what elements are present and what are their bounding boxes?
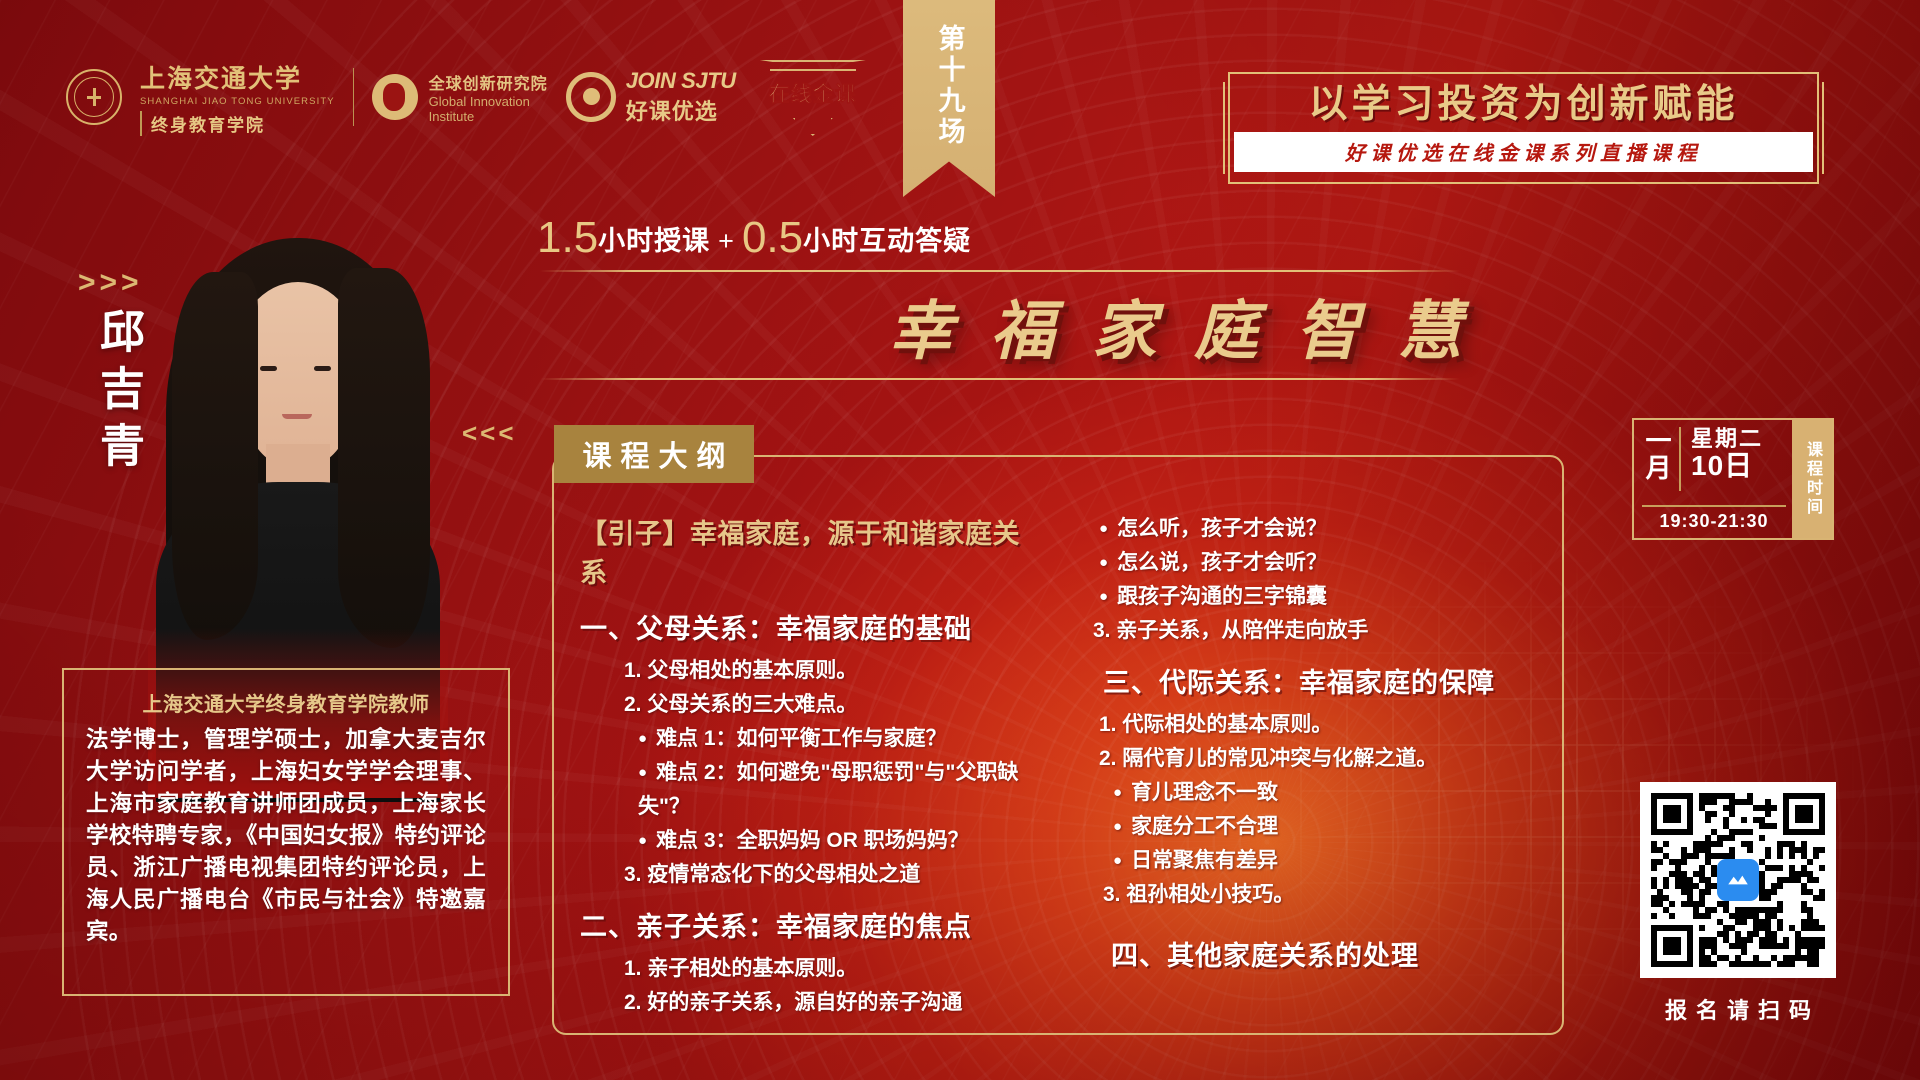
headline-main: 以学习投资为创新赋能 — [1234, 78, 1813, 132]
outline-item: 2. 父母关系的三大难点。 — [580, 688, 1047, 722]
qr-center-logo-icon — [1717, 859, 1759, 901]
outline-item: 2. 好的亲子关系，源自好的亲子沟通 — [580, 986, 1047, 1020]
badge-top-line-inner — [770, 69, 856, 71]
poster-canvas: 上海交通大学 SHANGHAI JIAO TONG UNIVERSITY 终身教… — [0, 0, 1920, 1080]
sjtu-name-en: SHANGHAI JIAO TONG UNIVERSITY — [140, 96, 335, 107]
schedule-time: 19:30-21:30 — [1642, 505, 1786, 532]
sjtu-wordmark: 上海交通大学 SHANGHAI JIAO TONG UNIVERSITY 终身教… — [140, 59, 335, 136]
outline-lead-in: 【引子】幸福家庭，源于和谐家庭关系 — [580, 512, 1047, 590]
gii-name-en-line2: Institute — [429, 109, 548, 124]
sjtu-seal-icon — [66, 69, 122, 125]
session-ribbon-label: 第十九场 — [933, 24, 966, 148]
sjtu-school-name: 终身教育学院 — [140, 111, 335, 136]
outline-bullet: 难点 1：如何平衡工作与家庭？ — [580, 722, 1047, 756]
badge-top-line-outer — [760, 60, 866, 62]
portrait-mouth — [282, 414, 312, 419]
portrait-eye-left — [260, 366, 277, 371]
outline-item: 1. 亲子相处的基本原则。 — [580, 952, 1047, 986]
speaker-arrows-left-icon: <<< — [462, 418, 517, 449]
speaker-bio-box: 上海交通大学终身教育学院教师 法学博士，管理学硕士，加拿大麦吉尔大学访问学者，上… — [62, 668, 510, 996]
gii-logo: 全球创新研究院 Global Innovation Institute — [372, 70, 548, 125]
gii-name-cn: 全球创新研究院 — [429, 70, 548, 94]
outline-item: 1. 代际相处的基本原则。 — [1085, 708, 1552, 742]
speaker-bio-title: 上海交通大学终身教育学院教师 — [86, 688, 486, 717]
join-sjtu-mark-icon — [566, 72, 616, 122]
divider-under-title — [540, 378, 1460, 380]
course-duration: 1.5小时授课+0.5小时互动答疑 — [537, 213, 971, 263]
logo-divider-1 — [353, 68, 354, 126]
outline-item: 1. 父母相处的基本原则。 — [580, 654, 1047, 688]
schedule-side-tab: 课程时间 — [1792, 420, 1832, 538]
outline-bullet: 难点 3：全职妈妈 OR 职场妈妈？ — [580, 824, 1047, 858]
gii-mark-icon — [372, 74, 418, 120]
portrait-hair-left — [172, 272, 258, 640]
outline-bullet: 怎么说，孩子才会听？ — [1085, 546, 1552, 580]
page-title: 幸 福 家 庭 智 慧 — [880, 280, 1480, 372]
join-sjtu-name-en: JOIN SJTU — [626, 68, 736, 94]
outline-item: 2. 隔代育儿的常见冲突与化解之道。 — [1085, 742, 1552, 776]
schedule-month: 一月 — [1644, 427, 1681, 491]
outline-columns: 【引子】幸福家庭，源于和谐家庭关系 一、父母关系：幸福家庭的基础 1. 父母相处… — [554, 457, 1562, 1033]
outline-column-left: 【引子】幸福家庭，源于和谐家庭关系 一、父母关系：幸福家庭的基础 1. 父母相处… — [554, 512, 1057, 1033]
schedule-main: 一月 星期二 10日 19:30-21:30 — [1634, 420, 1792, 538]
duration-qa-hours: 0.5 — [742, 213, 803, 262]
logo-bar: 上海交通大学 SHANGHAI JIAO TONG UNIVERSITY 终身教… — [66, 58, 872, 136]
gii-name-en-line1: Global Innovation — [429, 94, 548, 109]
schedule-side-label: 课程时间 — [1800, 441, 1824, 517]
duration-lecture-label: 小时授课 — [598, 226, 710, 256]
outline-column-right: 怎么听，孩子才会说？ 怎么说，孩子才会听？ 跟孩子沟通的三字锦囊 3. 亲子关系… — [1057, 512, 1562, 1033]
outline-section-2-heading: 二、亲子关系：幸福家庭的焦点 — [580, 905, 1047, 944]
qr-section: 报名请扫码 — [1640, 782, 1836, 1025]
join-sjtu-name-cn: 好课优选 — [626, 94, 736, 126]
outline-section-4-heading: 四、其他家庭关系的处理 — [1085, 934, 1552, 973]
outline-bullet: 日常聚焦有差异 — [1085, 844, 1552, 878]
join-sjtu-logo: JOIN SJTU 好课优选 — [566, 68, 736, 126]
qr-caption: 报名请扫码 — [1640, 993, 1836, 1025]
outline-bullet: 跟孩子沟通的三字锦囊 — [1085, 580, 1552, 614]
duration-lecture-hours: 1.5 — [537, 213, 598, 262]
schedule-weekday: 星期二 — [1691, 427, 1763, 450]
speaker-name: 邱吉青 — [86, 308, 151, 479]
divider-under-duration — [540, 270, 1460, 272]
outline-item: 3. 祖孙相处小技巧。 — [1085, 878, 1552, 912]
headline-sub: 好课优选在线金课系列直播课程 — [1234, 132, 1813, 172]
duration-plus-sign: + — [710, 226, 742, 256]
duration-qa-label: 小时互动答疑 — [803, 226, 971, 256]
speaker-arrows-right-icon: >>> — [78, 266, 143, 300]
sjtu-name-cn: 上海交通大学 — [140, 59, 335, 95]
outline-bullet: 育儿理念不一致 — [1085, 776, 1552, 810]
portrait-hair-right — [338, 268, 430, 648]
speaker-bio-body: 法学博士，管理学硕士，加拿大麦吉尔大学访问学者，上海妇女学学会理事、上海市家庭教… — [86, 724, 486, 948]
outline-section-3-heading: 三、代际关系：幸福家庭的保障 — [1085, 661, 1552, 700]
course-outline-panel: 课程大纲 【引子】幸福家庭，源于和谐家庭关系 一、父母关系：幸福家庭的基础 1.… — [552, 455, 1564, 1035]
outline-item: 3. 亲子关系，从陪伴走向放手 — [1085, 614, 1552, 648]
outline-bullet: 难点 2：如何避免"母职惩罚"与"父职缺失"？ — [580, 756, 1047, 824]
badge-chevron-down-icon — [793, 118, 833, 136]
schedule-box: 一月 星期二 10日 19:30-21:30 课程时间 — [1632, 418, 1834, 540]
outline-bullet: 怎么听，孩子才会说？ — [1085, 512, 1552, 546]
headline-box: 以学习投资为创新赋能 好课优选在线金课系列直播课程 — [1228, 72, 1819, 184]
portrait-eye-right — [314, 366, 331, 371]
outline-bullet: 家庭分工不合理 — [1085, 810, 1552, 844]
qr-code[interactable] — [1640, 782, 1836, 978]
schedule-day: 10日 — [1691, 450, 1763, 481]
gold-course-badge: 在线金课 — [754, 58, 872, 136]
outline-section-1-heading: 一、父母关系：幸福家庭的基础 — [580, 607, 1047, 646]
badge-label: 在线金课 — [754, 78, 872, 108]
outline-item: 3. 疫情常态化下的父母相处之道 — [580, 858, 1047, 892]
